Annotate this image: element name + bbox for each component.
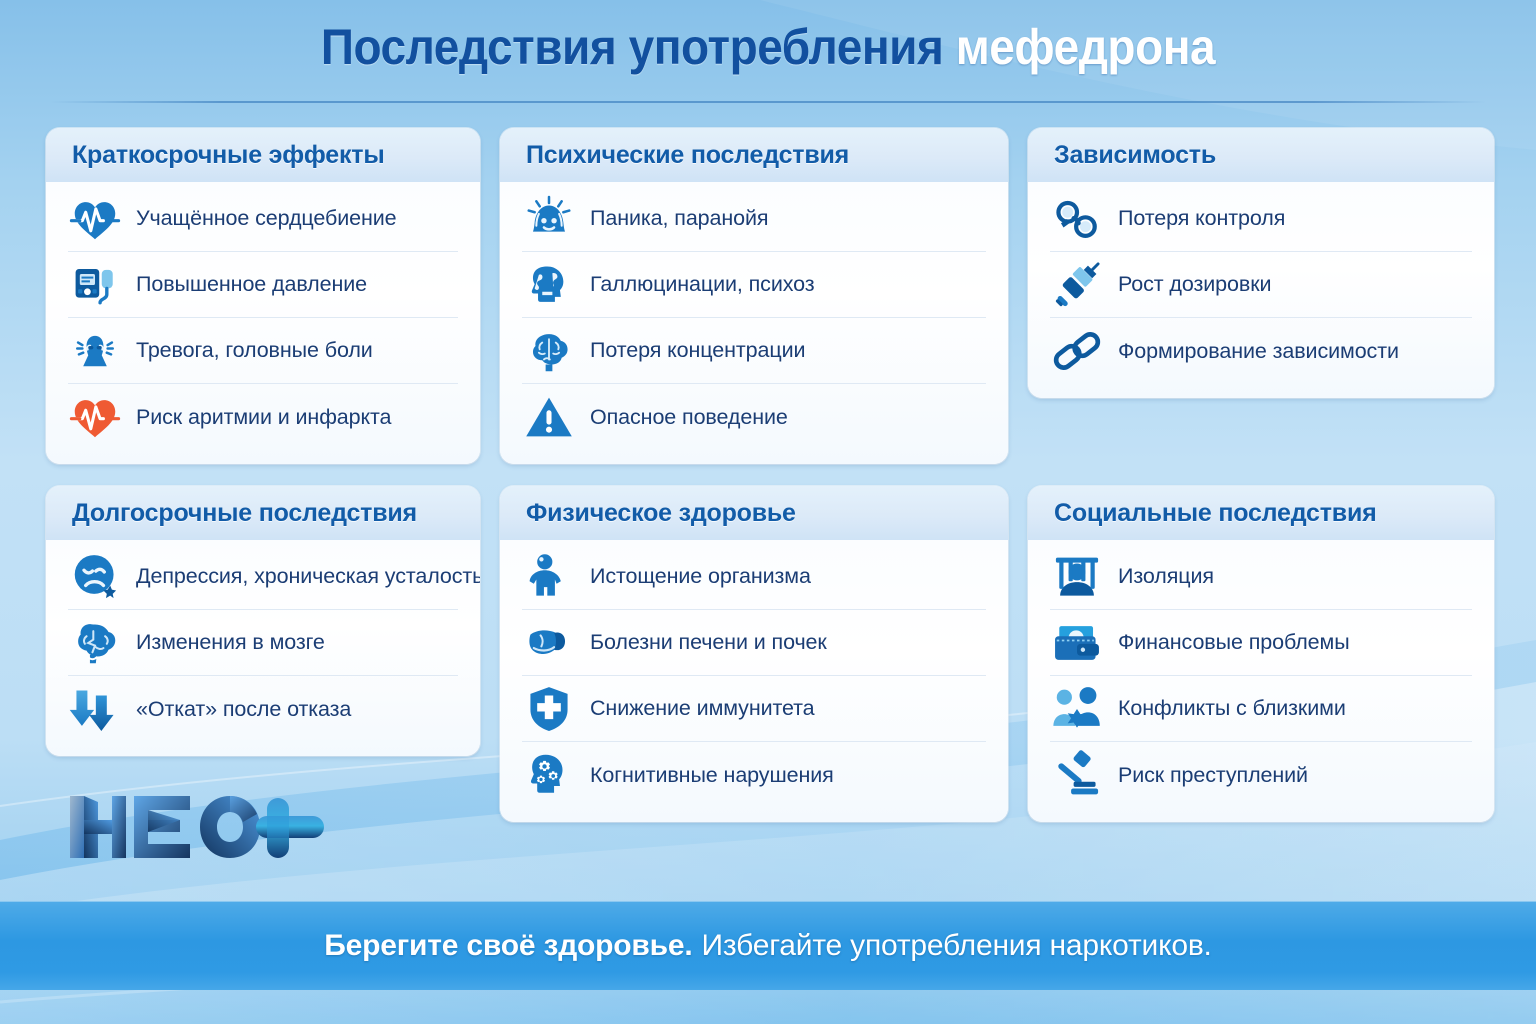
card-heading: Зависимость <box>1054 141 1468 170</box>
list-item[interactable]: Болезни печени и почек <box>522 610 986 676</box>
page-title: Последствия употребления мефедрона <box>0 20 1536 75</box>
list-item-label: Снижение иммунитета <box>590 696 815 721</box>
card-header: Долгосрочные последствия <box>46 486 480 540</box>
card-heading: Психические последствия <box>526 141 982 170</box>
brain-icon <box>522 324 576 378</box>
list-item[interactable]: Повышенное давление <box>68 252 458 318</box>
list-item-label: Депрессия, хроническая усталость <box>136 564 480 589</box>
card-header: Зависимость <box>1028 128 1494 182</box>
cards-grid: Краткосрочные эффекты Учащённое сердцеби… <box>46 128 1501 822</box>
list-item-label: Изменения в мозге <box>136 630 325 655</box>
card-body: Истощение организма Болезни печени и поч… <box>500 540 1008 822</box>
panic-face-icon <box>522 192 576 246</box>
title-divider <box>50 101 1486 103</box>
list-item[interactable]: «Откат» после отказа <box>68 676 458 742</box>
card-header: Психические последствия <box>500 128 1008 182</box>
list-item[interactable]: Когнитивные нарушения <box>522 742 986 808</box>
gavel-icon <box>1050 748 1104 802</box>
list-item-label: Конфликты с близкими <box>1118 696 1346 721</box>
card-body: Депрессия, хроническая усталость Изменен… <box>46 540 480 756</box>
list-item[interactable]: Формирование зависимости <box>1050 318 1472 384</box>
brand-logo-neo-plus <box>62 788 342 866</box>
list-item[interactable]: Конфликты с близкими <box>1050 676 1472 742</box>
card-physical-health: Физическое здоровье Истощение организма <box>500 486 1008 822</box>
list-item-label: Повышенное давление <box>136 272 367 297</box>
list-item-label: Финансовые проблемы <box>1118 630 1350 655</box>
list-item-label: Болезни печени и почек <box>590 630 827 655</box>
card-header: Социальные последствия <box>1028 486 1494 540</box>
liver-kidney-icon <box>522 616 576 670</box>
list-item-label: Учащённое сердцебиение <box>136 206 397 231</box>
list-item[interactable]: Изменения в мозге <box>68 610 458 676</box>
card-body: Изоляция Финансовые проблемы <box>1028 540 1494 822</box>
list-item[interactable]: Рост дозировки <box>1050 252 1472 318</box>
card-heading: Физическое здоровье <box>526 499 982 528</box>
two-people-conflict-icon <box>1050 682 1104 736</box>
list-item[interactable]: Паника, паранойя <box>522 186 986 252</box>
card-body: Учащённое сердцебиение <box>46 182 480 464</box>
footer-message-bold: Берегите своё здоровье. <box>324 929 692 963</box>
list-item-label: Тревога, головные боли <box>136 338 373 363</box>
down-arrows-icon <box>68 682 122 736</box>
wallet-icon <box>1050 616 1104 670</box>
list-item[interactable]: Тревога, головные боли <box>68 318 458 384</box>
list-item-label: Риск аритмии и инфаркта <box>136 405 391 430</box>
list-item-label: Потеря контроля <box>1118 206 1285 231</box>
list-item-label: «Откат» после отказа <box>136 697 351 722</box>
list-item-label: Риск преступлений <box>1118 763 1308 788</box>
heartbeat-icon <box>68 192 122 246</box>
list-item-label: Истощение организма <box>590 564 811 589</box>
list-item[interactable]: Галлюцинации, психоз <box>522 252 986 318</box>
card-short-term-effects: Краткосрочные эффекты Учащённое сердцеби… <box>46 128 480 464</box>
head-gears-icon <box>522 748 576 802</box>
card-heading: Краткосрочные эффекты <box>72 141 454 170</box>
blood-pressure-monitor-icon <box>68 258 122 312</box>
card-heading: Долгосрочные последствия <box>72 499 454 528</box>
exhausted-body-icon <box>522 550 576 604</box>
list-item[interactable]: Потеря контроля <box>1050 186 1472 252</box>
card-long-term-consequences: Долгосрочные последствия Депрессия, хрон… <box>46 486 480 756</box>
list-item[interactable]: Риск аритмии и инфаркта <box>68 384 458 450</box>
chain-link-icon <box>1050 324 1104 378</box>
card-heading: Социальные последствия <box>1054 499 1468 528</box>
brain-change-icon <box>68 616 122 670</box>
list-item[interactable]: Опасное поведение <box>522 384 986 450</box>
warning-triangle-icon <box>522 390 576 444</box>
list-item[interactable]: Изоляция <box>1050 544 1472 610</box>
sad-face-icon <box>68 550 122 604</box>
card-header: Краткосрочные эффекты <box>46 128 480 182</box>
card-mental-consequences: Психические последствия Паника, паранойя <box>500 128 1008 464</box>
shield-cross-icon <box>522 682 576 736</box>
list-item[interactable]: Учащённое сердцебиение <box>68 186 458 252</box>
head-hallucination-icon <box>522 258 576 312</box>
list-item-label: Рост дозировки <box>1118 272 1271 297</box>
syringe-icon <box>1050 258 1104 312</box>
list-item-label: Опасное поведение <box>590 405 788 430</box>
footer-message-normal: Избегайте употребления наркотиков. <box>702 929 1212 963</box>
card-addiction: Зависимость Потеря контроля <box>1028 128 1494 398</box>
headache-person-icon <box>68 324 122 378</box>
handcuffs-icon <box>1050 192 1104 246</box>
list-item-label: Формирование зависимости <box>1118 339 1399 364</box>
card-body: Паника, паранойя Галлюцинации, психоз <box>500 182 1008 464</box>
list-item-label: Изоляция <box>1118 564 1214 589</box>
list-item[interactable]: Истощение организма <box>522 544 986 610</box>
person-behind-bars-icon <box>1050 550 1104 604</box>
page-title-primary: Последствия употребления <box>321 19 943 75</box>
list-item-label: Когнитивные нарушения <box>590 763 834 788</box>
card-header: Физическое здоровье <box>500 486 1008 540</box>
list-item[interactable]: Потеря концентрации <box>522 318 986 384</box>
list-item-label: Галлюцинации, психоз <box>590 272 815 297</box>
list-item[interactable]: Риск преступлений <box>1050 742 1472 808</box>
list-item-label: Потеря концентрации <box>590 338 805 363</box>
list-item[interactable]: Депрессия, хроническая усталость <box>68 544 458 610</box>
card-social-consequences: Социальные последствия <box>1028 486 1494 822</box>
footer-message: Берегите своё здоровье. Избегайте употре… <box>0 901 1536 990</box>
page-title-highlight: мефедрона <box>956 19 1215 75</box>
list-item[interactable]: Финансовые проблемы <box>1050 610 1472 676</box>
list-item-label: Паника, паранойя <box>590 206 768 231</box>
card-body: Потеря контроля Рост дозировки <box>1028 182 1494 398</box>
red-heart-arrhythmia-icon <box>68 390 122 444</box>
list-item[interactable]: Снижение иммунитета <box>522 676 986 742</box>
